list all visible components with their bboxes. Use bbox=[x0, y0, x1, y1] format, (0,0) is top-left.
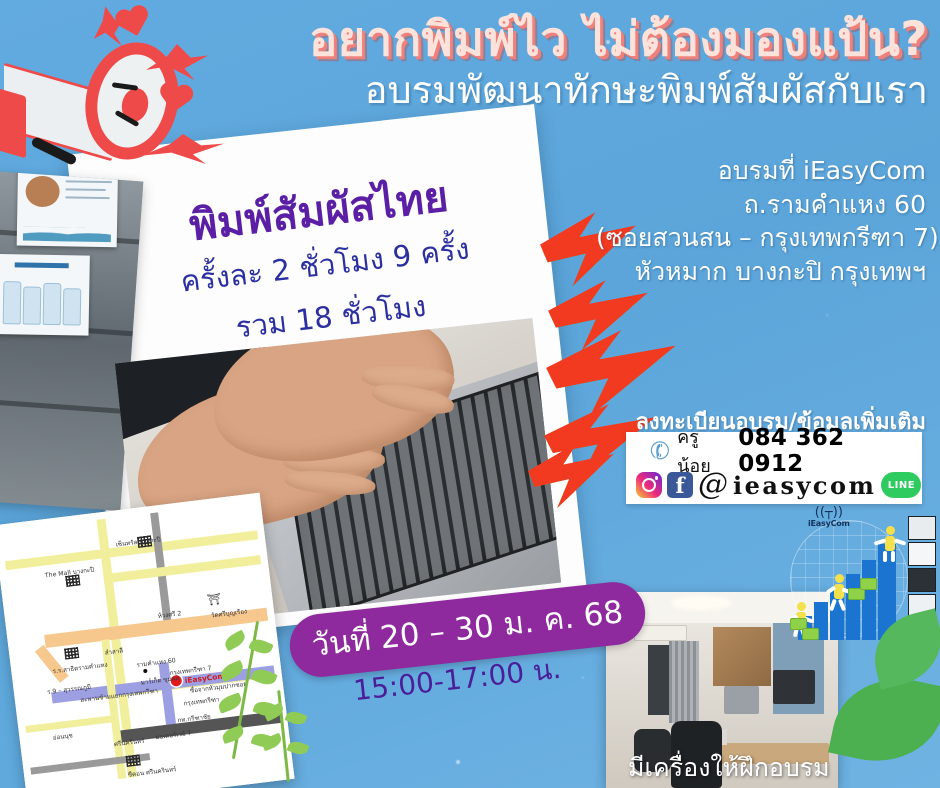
bottle-icon bbox=[22, 286, 41, 325]
brand-name: iEasyCom bbox=[808, 519, 850, 528]
satellite-dish-icon bbox=[908, 516, 936, 540]
social-row[interactable]: f @ ieasycom LINE bbox=[634, 468, 914, 502]
growth-bar bbox=[846, 574, 860, 640]
money-icon bbox=[802, 628, 819, 640]
road-yellow-mid bbox=[103, 554, 269, 583]
product-poster-bottom bbox=[0, 254, 90, 336]
leaf bbox=[287, 739, 310, 757]
wall-board bbox=[713, 627, 771, 686]
monitor bbox=[724, 686, 759, 713]
building-icon bbox=[126, 754, 141, 767]
facebook-icon[interactable]: f bbox=[667, 472, 693, 498]
ceiling-light bbox=[671, 596, 731, 610]
map-label: อ่อนนุช bbox=[52, 730, 73, 742]
tv-icon bbox=[908, 568, 936, 592]
address-line-venue: อบรมที่ iEasyCom bbox=[596, 154, 926, 188]
leaf-sprig-lower bbox=[252, 690, 322, 788]
address-line-street: ถ.รามคำแหง 60 bbox=[596, 188, 926, 222]
bottle-icon bbox=[43, 283, 62, 325]
map-label: ร.ร.สาธิตรามคำแหง bbox=[52, 660, 108, 677]
address-block: อบรมที่ iEasyCom ถ.รามคำแหง 60 (ซอยสวนสน… bbox=[596, 154, 926, 288]
leaf bbox=[260, 733, 283, 752]
bottle-icon bbox=[2, 281, 21, 325]
address-line-district: หัวหมาก บางกะปิ กรุงเทพฯ bbox=[596, 255, 926, 289]
instagram-icon[interactable] bbox=[636, 472, 662, 498]
poster-wave-graphic bbox=[23, 227, 111, 243]
finger bbox=[284, 468, 376, 498]
contact-card[interactable]: ✆ ครูน้อย 084 362 0912 f @ ieasycom LINE bbox=[626, 432, 922, 504]
smartphone-icon bbox=[908, 542, 936, 566]
promotional-poster: อยากพิมพ์ไว ไม่ต้องมองแป้น? อบรมพัฒนาทัก… bbox=[0, 0, 940, 788]
lightning-bolt-icon bbox=[548, 280, 648, 350]
leaf bbox=[221, 725, 246, 744]
phone-icon: ✆ bbox=[647, 436, 674, 465]
sparkle-dot bbox=[456, 760, 460, 764]
signal-wave-icon: ((┬)) bbox=[808, 506, 850, 519]
classroom-caption: มีเครื่องให้ฝึกอบรม bbox=[628, 748, 830, 788]
megaphone-illustration bbox=[0, 6, 244, 196]
curtain bbox=[669, 641, 699, 723]
monitor bbox=[773, 670, 815, 703]
leaf bbox=[284, 709, 307, 728]
map-label: ศรีนครินทร์ bbox=[113, 736, 145, 750]
bottle-icon bbox=[63, 288, 82, 326]
headline-primary: อยากพิมพ์ไว ไม่ต้องมองแป้น? bbox=[250, 16, 928, 65]
headline-secondary: อบรมพัฒนาทักษะพิมพ์สัมผัสกับเรา bbox=[250, 69, 928, 113]
building-icon bbox=[64, 647, 79, 660]
heart-icon bbox=[156, 81, 195, 116]
at-icon: @ bbox=[698, 470, 728, 500]
poster-text-line bbox=[66, 196, 110, 199]
headline-block: อยากพิมพ์ไว ไม่ต้องมองแป้น? อบรมพัฒนาทัก… bbox=[250, 16, 928, 113]
poster-title-bar bbox=[15, 262, 69, 268]
megaphone-band bbox=[0, 88, 26, 159]
leaf bbox=[218, 660, 246, 683]
poi-dot bbox=[143, 669, 147, 673]
brand-logo: ((┬)) iEasyCom bbox=[808, 506, 850, 528]
money-icon bbox=[860, 578, 877, 590]
shop-display-photo bbox=[0, 171, 143, 511]
phone-row[interactable]: ✆ ครูน้อย 084 362 0912 bbox=[634, 434, 914, 468]
growth-bar bbox=[862, 560, 876, 640]
leaf bbox=[222, 630, 248, 652]
line-icon[interactable]: LINE bbox=[881, 472, 921, 498]
address-line-soi: (ซอยสวนสน – กรุงเทพกรีฑา 7) bbox=[596, 221, 926, 255]
leaf bbox=[250, 666, 277, 688]
social-handle[interactable]: ieasycom bbox=[733, 471, 876, 500]
temple-icon: ⛩ bbox=[207, 593, 222, 607]
